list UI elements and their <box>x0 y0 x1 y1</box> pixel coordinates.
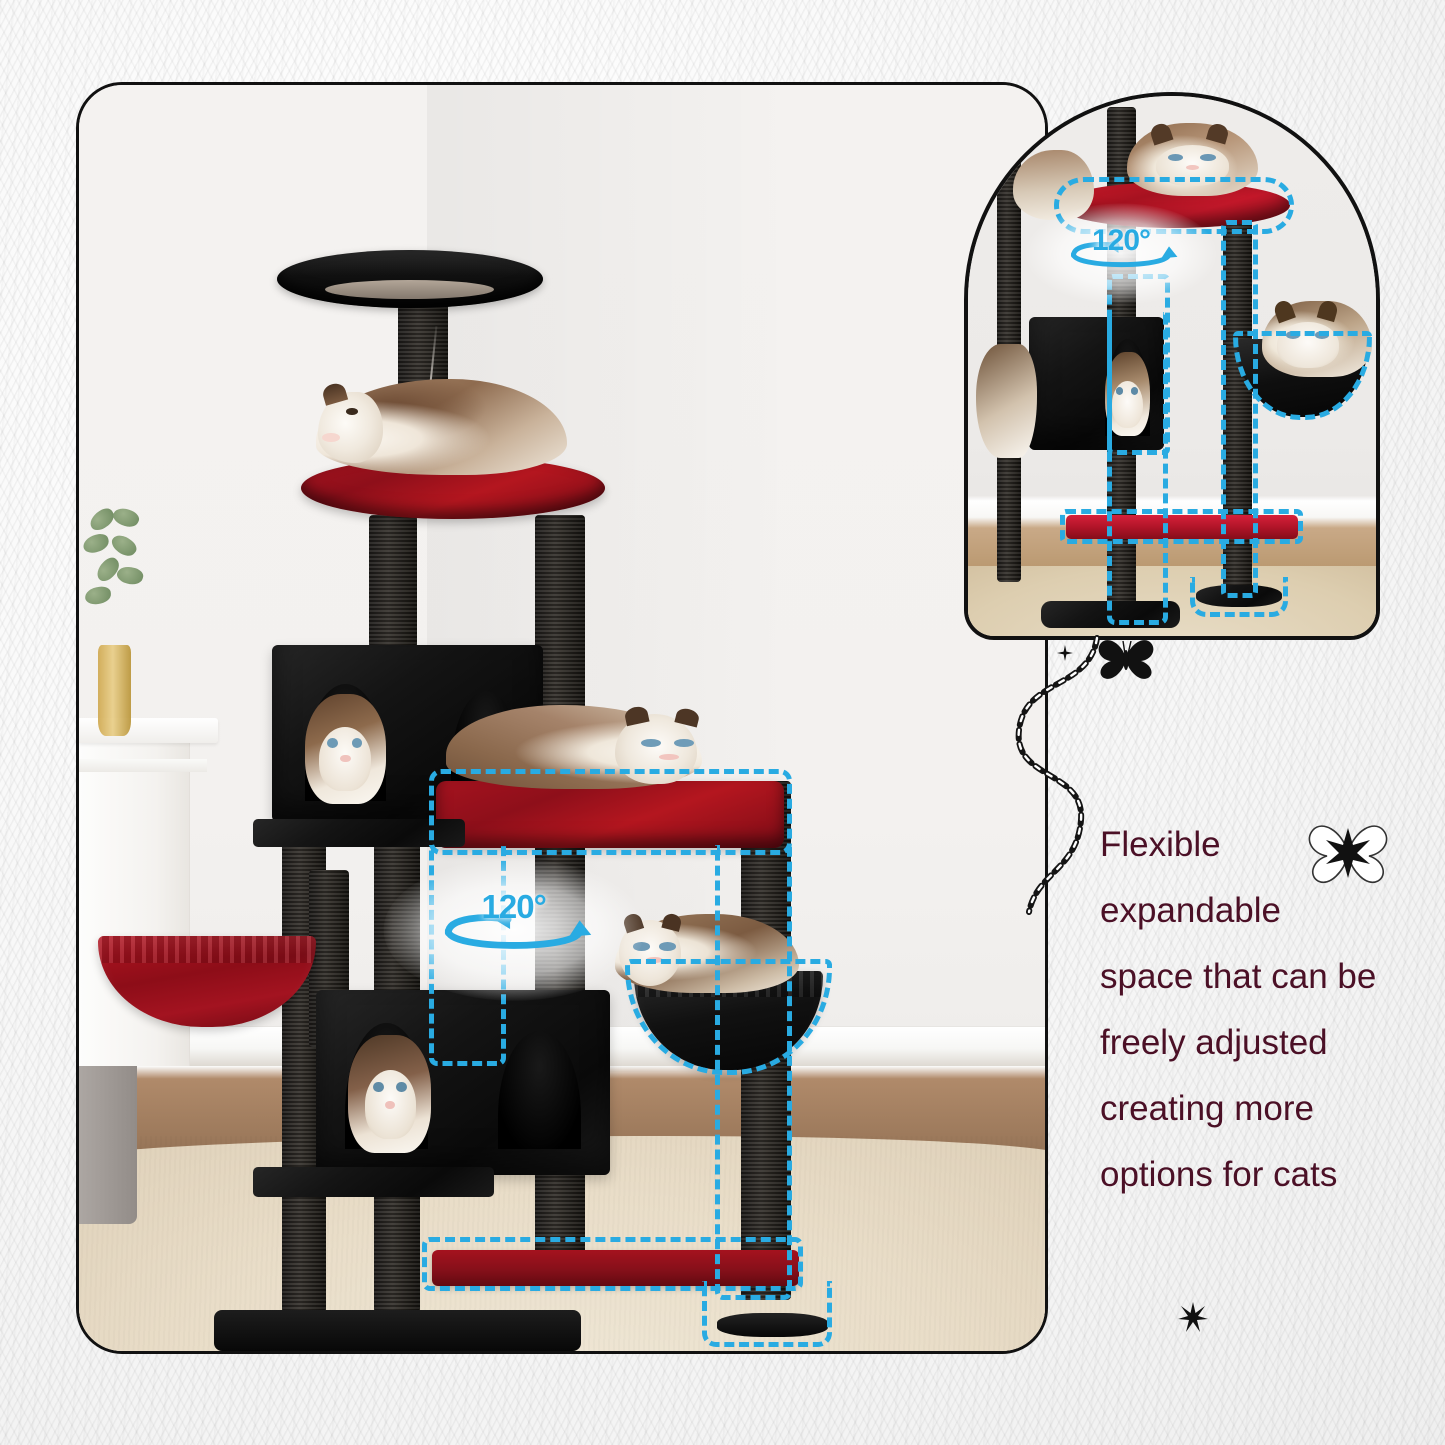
top-perch-surface <box>325 280 494 299</box>
shelf-left-upper <box>253 819 466 847</box>
feature-line-3: space that can be <box>1100 944 1430 1010</box>
lower-condo-door-right <box>498 1031 580 1149</box>
main-product-photo: 120° <box>76 82 1048 1354</box>
inset-cat-condo <box>1105 352 1151 437</box>
feature-description: Flexible expandable space that can be fr… <box>1100 812 1430 1208</box>
inset-detail-photo: 120° <box>964 92 1380 640</box>
inset-cat-hammock <box>1262 301 1372 377</box>
base-board <box>214 1310 581 1351</box>
sparkle-large-icon <box>1178 1302 1208 1332</box>
shelf-left-mid <box>253 1167 495 1196</box>
bottom-red-shelf-rotatable[interactable] <box>432 1250 799 1287</box>
foot-right <box>717 1313 828 1337</box>
cat-on-red-perch <box>316 379 567 475</box>
feature-line-1: Flexible <box>1100 812 1430 878</box>
cat-in-black-hammock <box>615 914 799 992</box>
top-perch <box>277 250 543 308</box>
inset-foot-right <box>1196 585 1282 608</box>
lower-condo <box>316 990 611 1175</box>
sparkle-small-icon <box>1057 645 1073 661</box>
mid-red-platform-rotatable[interactable] <box>436 781 784 848</box>
butterfly-solid-icon <box>1095 636 1157 680</box>
post-upper-left <box>369 515 417 648</box>
inset-post-right <box>1223 204 1252 604</box>
inset-cat-side <box>976 344 1037 457</box>
feature-line-5: creating more <box>1100 1076 1430 1142</box>
inset-cat-top <box>1127 123 1258 196</box>
inset-cat-left <box>1013 150 1095 220</box>
cat-in-lower-condo <box>348 1035 430 1153</box>
feature-line-4: freely adjusted <box>1100 1010 1430 1076</box>
inset-cat-tree-assembly <box>968 96 1376 636</box>
cat-in-upper-condo <box>305 694 386 804</box>
feature-line-2: expandable <box>1100 878 1430 944</box>
cat-tree-assembly <box>79 85 1045 1351</box>
inset-red-shelf-rotatable[interactable] <box>1066 515 1299 540</box>
feature-line-6: options for cats <box>1100 1142 1430 1208</box>
inset-condo-rotatable[interactable] <box>1029 317 1164 449</box>
cat-on-mid-platform <box>446 705 702 789</box>
